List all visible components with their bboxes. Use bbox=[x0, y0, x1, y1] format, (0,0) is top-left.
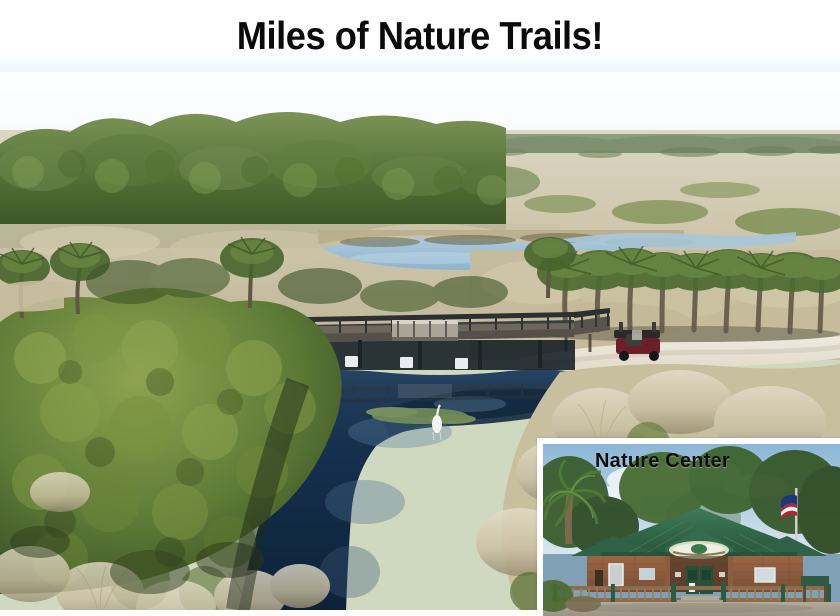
nature-center-photo: Nature Center bbox=[543, 444, 840, 616]
inset-caption: Nature Center bbox=[595, 450, 730, 473]
photo-bottom-margin bbox=[0, 610, 537, 616]
slide-title-bar: Miles of Nature Trails! bbox=[0, 0, 840, 72]
slide-root: Miles of Nature Trails! bbox=[0, 0, 840, 616]
page-title: Miles of Nature Trails! bbox=[237, 17, 603, 56]
nature-center-inset: Nature Center bbox=[537, 438, 840, 616]
